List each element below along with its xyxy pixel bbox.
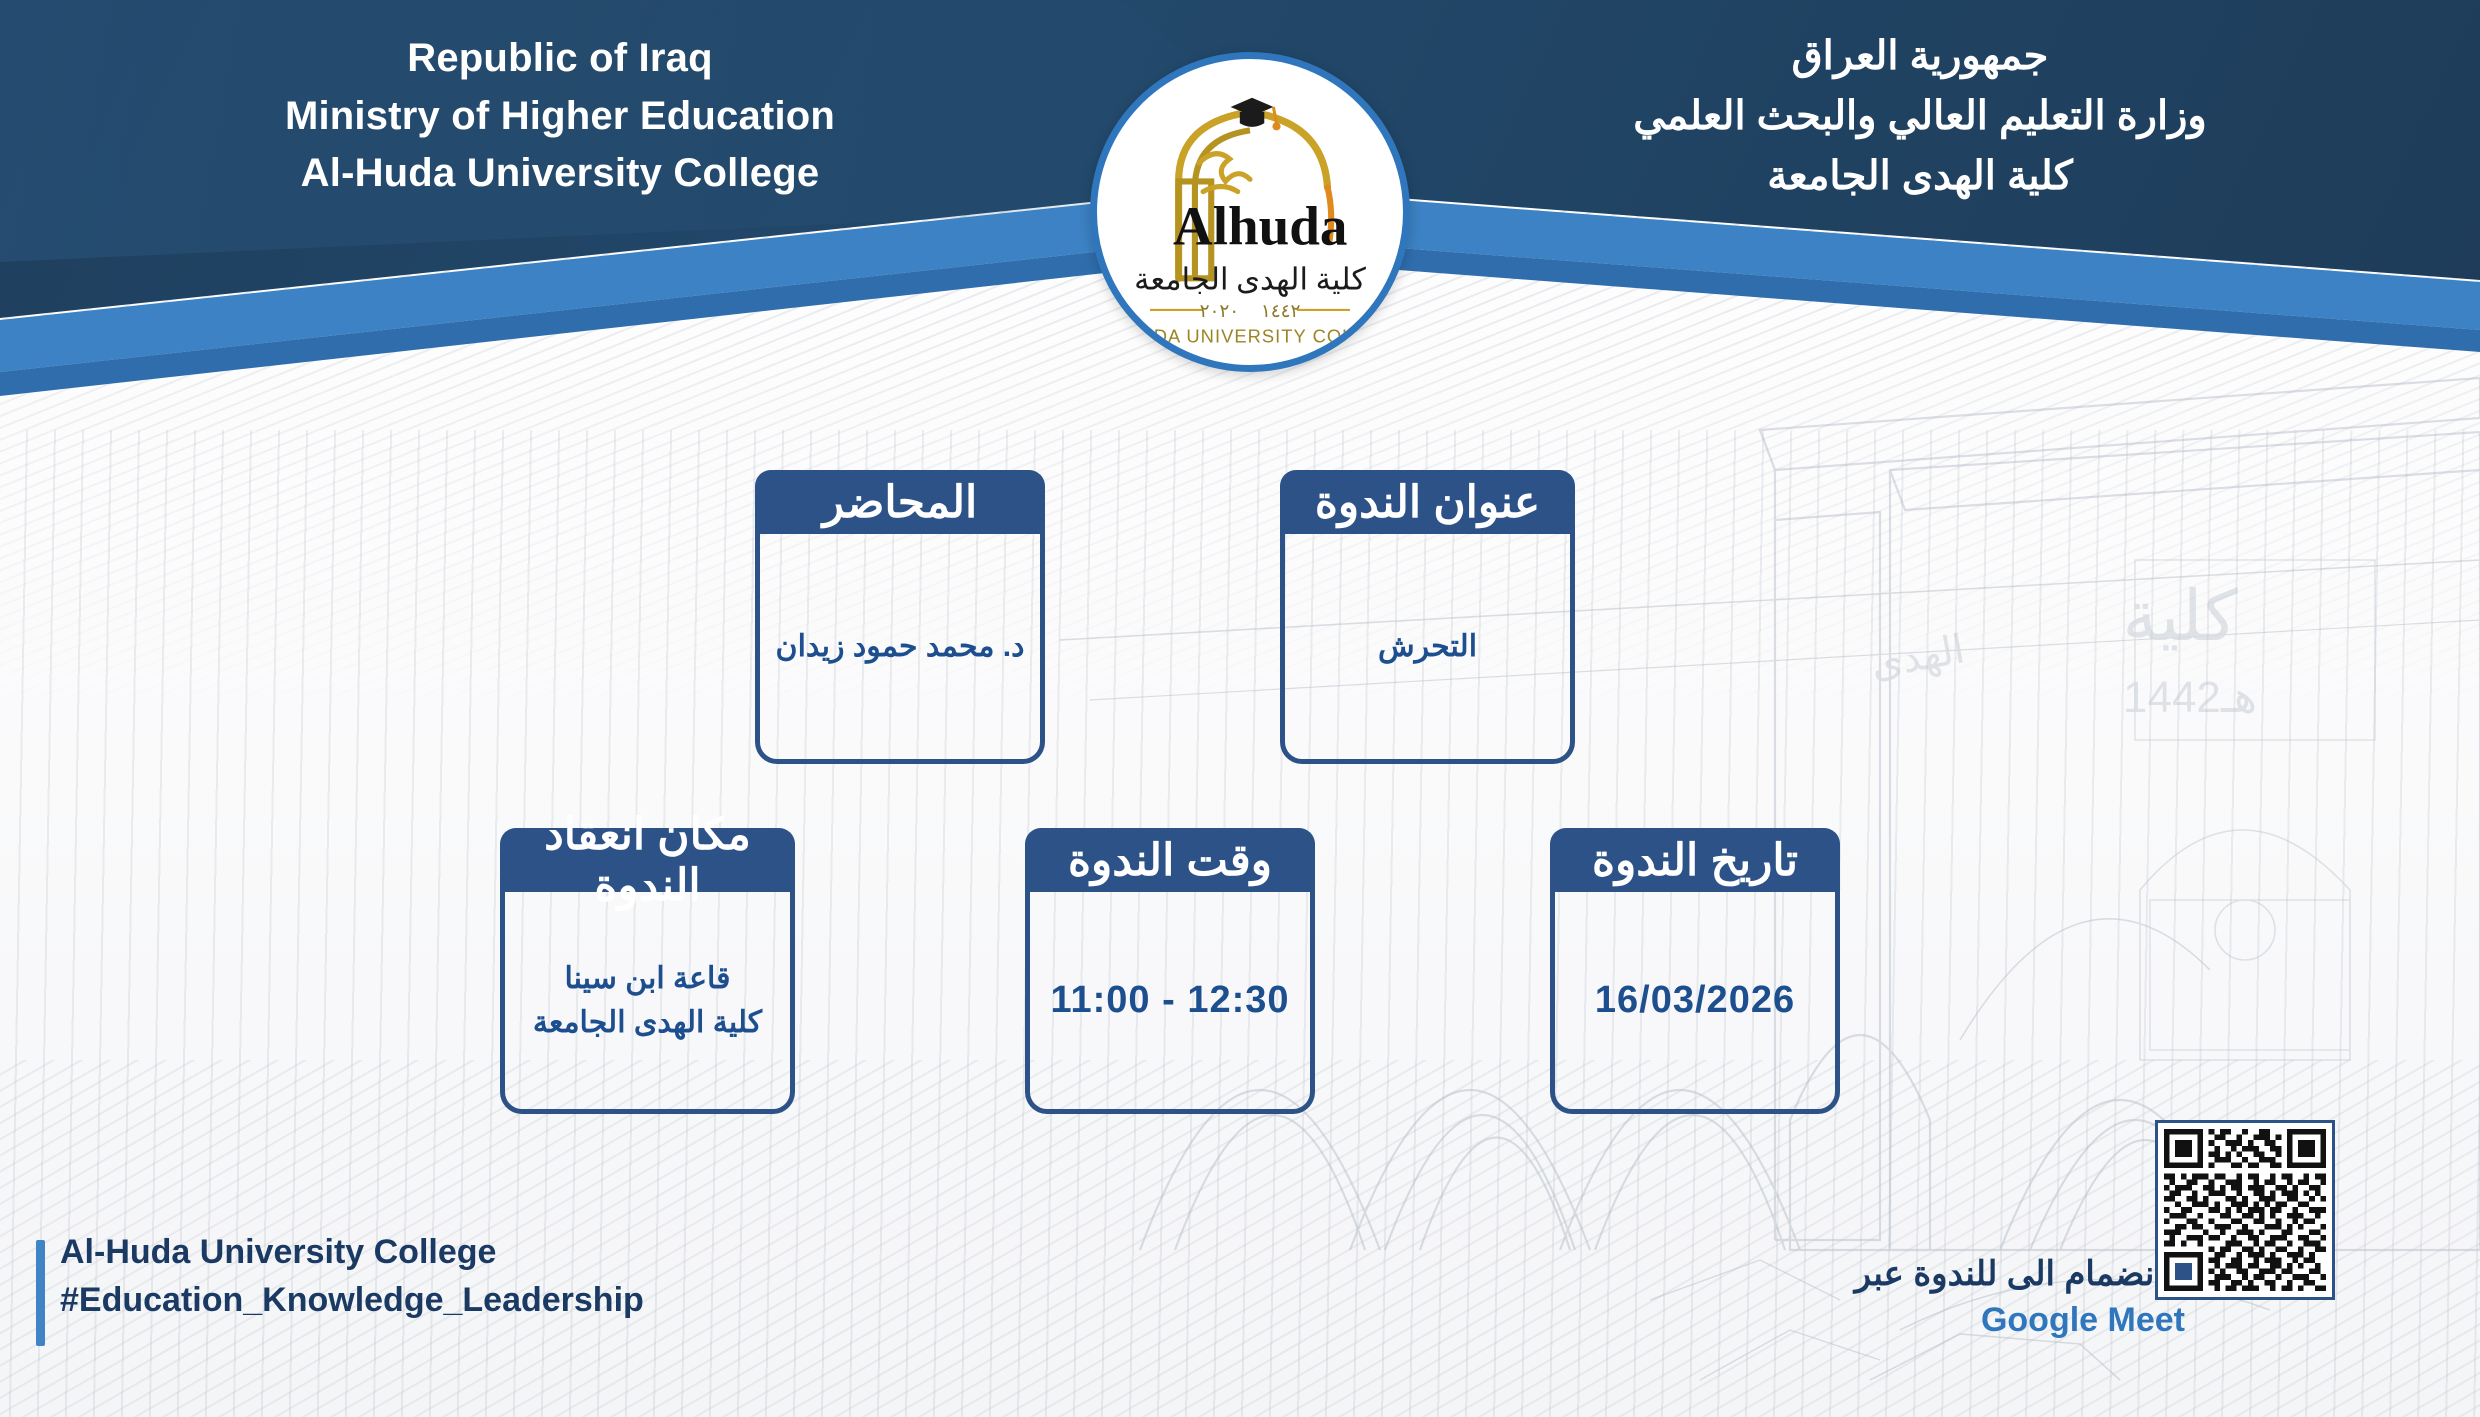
card-time: وقت الندوة 11:00 - 12:30 bbox=[1025, 828, 1315, 1114]
card-date-heading: تاريخ الندوة bbox=[1550, 828, 1840, 892]
join-instructions: للانضمام الى للندوة عبر Google Meet bbox=[1765, 1252, 2185, 1343]
watermark-sign-word: الهدى bbox=[1867, 626, 1968, 688]
card-lecturer-heading: المحاضر bbox=[755, 470, 1045, 534]
university-logo: Alhuda كلية الهدى الجامعة ٢٠٢٠ ١٤٤٢ AL-H… bbox=[1090, 52, 1410, 372]
card-date: تاريخ الندوة 16/03/2026 bbox=[1550, 828, 1840, 1114]
card-lecturer-value: د. محمد حمود زيدان bbox=[755, 534, 1045, 764]
logo-year-arabic: ٢٠٢٠ bbox=[1200, 300, 1239, 321]
card-venue-value: قاعة ابن سينا كلية الهدى الجامعة bbox=[500, 892, 795, 1114]
qr-finder-accent bbox=[2175, 1263, 2192, 1280]
logo-wordmark: Alhuda bbox=[1173, 196, 1348, 257]
join-arabic-label: للانضمام الى للندوة عبر bbox=[1765, 1252, 2185, 1298]
watermark-hijri-year: 1442هـ bbox=[2123, 673, 2257, 722]
logo-year-hijri: ١٤٤٢ bbox=[1261, 300, 1300, 321]
card-lecturer: المحاضر د. محمد حمود زيدان bbox=[755, 470, 1045, 764]
join-platform-label: Google Meet bbox=[1765, 1298, 2185, 1344]
card-seminar-title: عنوان الندوة التحرش bbox=[1280, 470, 1575, 764]
card-date-value: 16/03/2026 bbox=[1550, 892, 1840, 1114]
card-seminar-title-value: التحرش bbox=[1280, 534, 1575, 764]
header-arabic-title: جمهورية العراق وزارة التعليم العالي والب… bbox=[1510, 26, 2330, 206]
seminar-poster: كلية 1442هـ الهدى Republic of Iraq Minis… bbox=[0, 0, 2480, 1417]
footer-accent-bar bbox=[36, 1240, 45, 1346]
watermark-arabic-word: كلية bbox=[2122, 579, 2238, 656]
card-venue-heading: مكان انعقاد الندوة bbox=[500, 828, 795, 892]
footer-college-name: Al-Huda University College bbox=[60, 1228, 644, 1276]
logo-arabic-calligraphy: كلية الهدى الجامعة bbox=[1134, 263, 1366, 298]
footer-hashtag: #Education_Knowledge_Leadership bbox=[60, 1276, 644, 1324]
card-time-value: 11:00 - 12:30 bbox=[1025, 892, 1315, 1114]
card-time-heading: وقت الندوة bbox=[1025, 828, 1315, 892]
card-seminar-title-heading: عنوان الندوة bbox=[1280, 470, 1575, 534]
header-english-title: Republic of Iraq Ministry of Higher Educ… bbox=[150, 30, 970, 203]
qr-code[interactable] bbox=[2155, 1120, 2335, 1300]
card-venue: مكان انعقاد الندوة قاعة ابن سينا كلية ال… bbox=[500, 828, 795, 1114]
footer-text-block: Al-Huda University College #Education_Kn… bbox=[60, 1228, 644, 1325]
